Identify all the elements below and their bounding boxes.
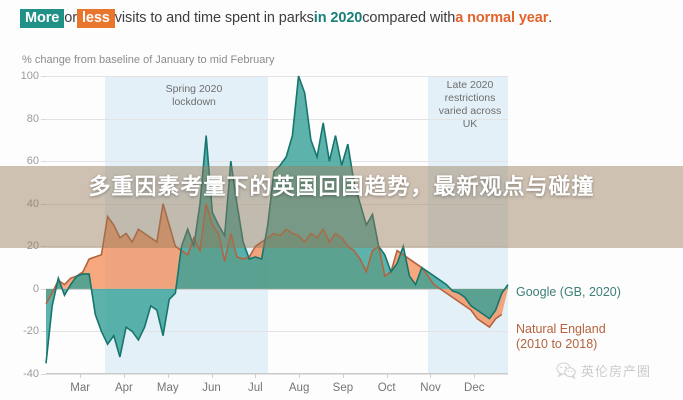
page-title: More or less visits to and time spent in… <box>20 9 552 28</box>
x-axis-tick-label: Nov <box>420 382 440 394</box>
x-axis-tick-label: May <box>157 382 179 394</box>
headline-more-highlight: More <box>20 9 64 28</box>
x-axis-tick-mark <box>474 374 475 378</box>
watermark-text: 英伦房产圈 <box>581 361 651 380</box>
y-axis-tick-label: 80 <box>27 113 39 125</box>
watermark: 英伦房产圈 <box>556 361 651 380</box>
x-axis-tick-label: Sep <box>333 382 353 394</box>
wechat-logo-icon <box>556 362 576 379</box>
y-axis-tick-mark <box>41 374 46 375</box>
x-axis-tick-mark <box>430 374 431 378</box>
infographic-root: More or less visits to and time spent in… <box>0 0 683 400</box>
overlay-headline-text: 多重因素考量下的英国回国趋势，最新观点与碰撞 <box>0 171 683 205</box>
x-axis-tick-mark <box>299 374 300 378</box>
x-axis-tick-label: Apr <box>115 382 133 394</box>
x-axis-tick-mark <box>255 374 256 378</box>
annotation-late-restrictions: Late 2020 restrictions varied across UK <box>418 79 522 131</box>
x-axis-tick-label: Oct <box>378 382 396 394</box>
headline-less-highlight: less <box>77 9 115 28</box>
headline-period: . <box>548 10 552 26</box>
y-axis-tick-label: 100 <box>21 70 39 82</box>
x-axis-tick-mark <box>124 374 125 378</box>
y-axis-tick-label: -40 <box>23 368 39 380</box>
x-axis-tick-mark <box>212 374 213 378</box>
headline-normal-year: a normal year <box>455 10 548 26</box>
chart-subtitle: % change from baseline of January to mid… <box>22 54 275 66</box>
legend-label-natural-england: Natural England (2010 to 2018) <box>516 322 606 352</box>
headline-in-2020: in 2020 <box>314 10 362 26</box>
x-axis-tick-mark <box>387 374 388 378</box>
legend-label-google: Google (GB, 2020) <box>516 285 621 300</box>
x-axis-tick-label: Jul <box>248 382 263 394</box>
x-axis-tick-label: Aug <box>289 382 309 394</box>
x-axis-tick-mark <box>80 374 81 378</box>
headline-compared-with: compared with <box>362 10 455 26</box>
headline-middle-text: visits to and time spent in parks <box>115 10 314 26</box>
headline-or: or <box>64 10 77 26</box>
y-axis-tick-label: -20 <box>23 325 39 337</box>
x-axis-tick-label: Mar <box>70 382 90 394</box>
annotation-spring-lockdown: Spring 2020 lockdown <box>134 83 254 109</box>
x-axis-tick-label: Dec <box>464 382 484 394</box>
x-axis-tick-mark <box>343 374 344 378</box>
y-axis-tick-label: 0 <box>33 283 39 295</box>
gridline <box>46 374 508 375</box>
x-axis-tick-label: Jun <box>202 382 221 394</box>
x-axis-tick-mark <box>168 374 169 378</box>
x-axis-line <box>46 373 508 374</box>
